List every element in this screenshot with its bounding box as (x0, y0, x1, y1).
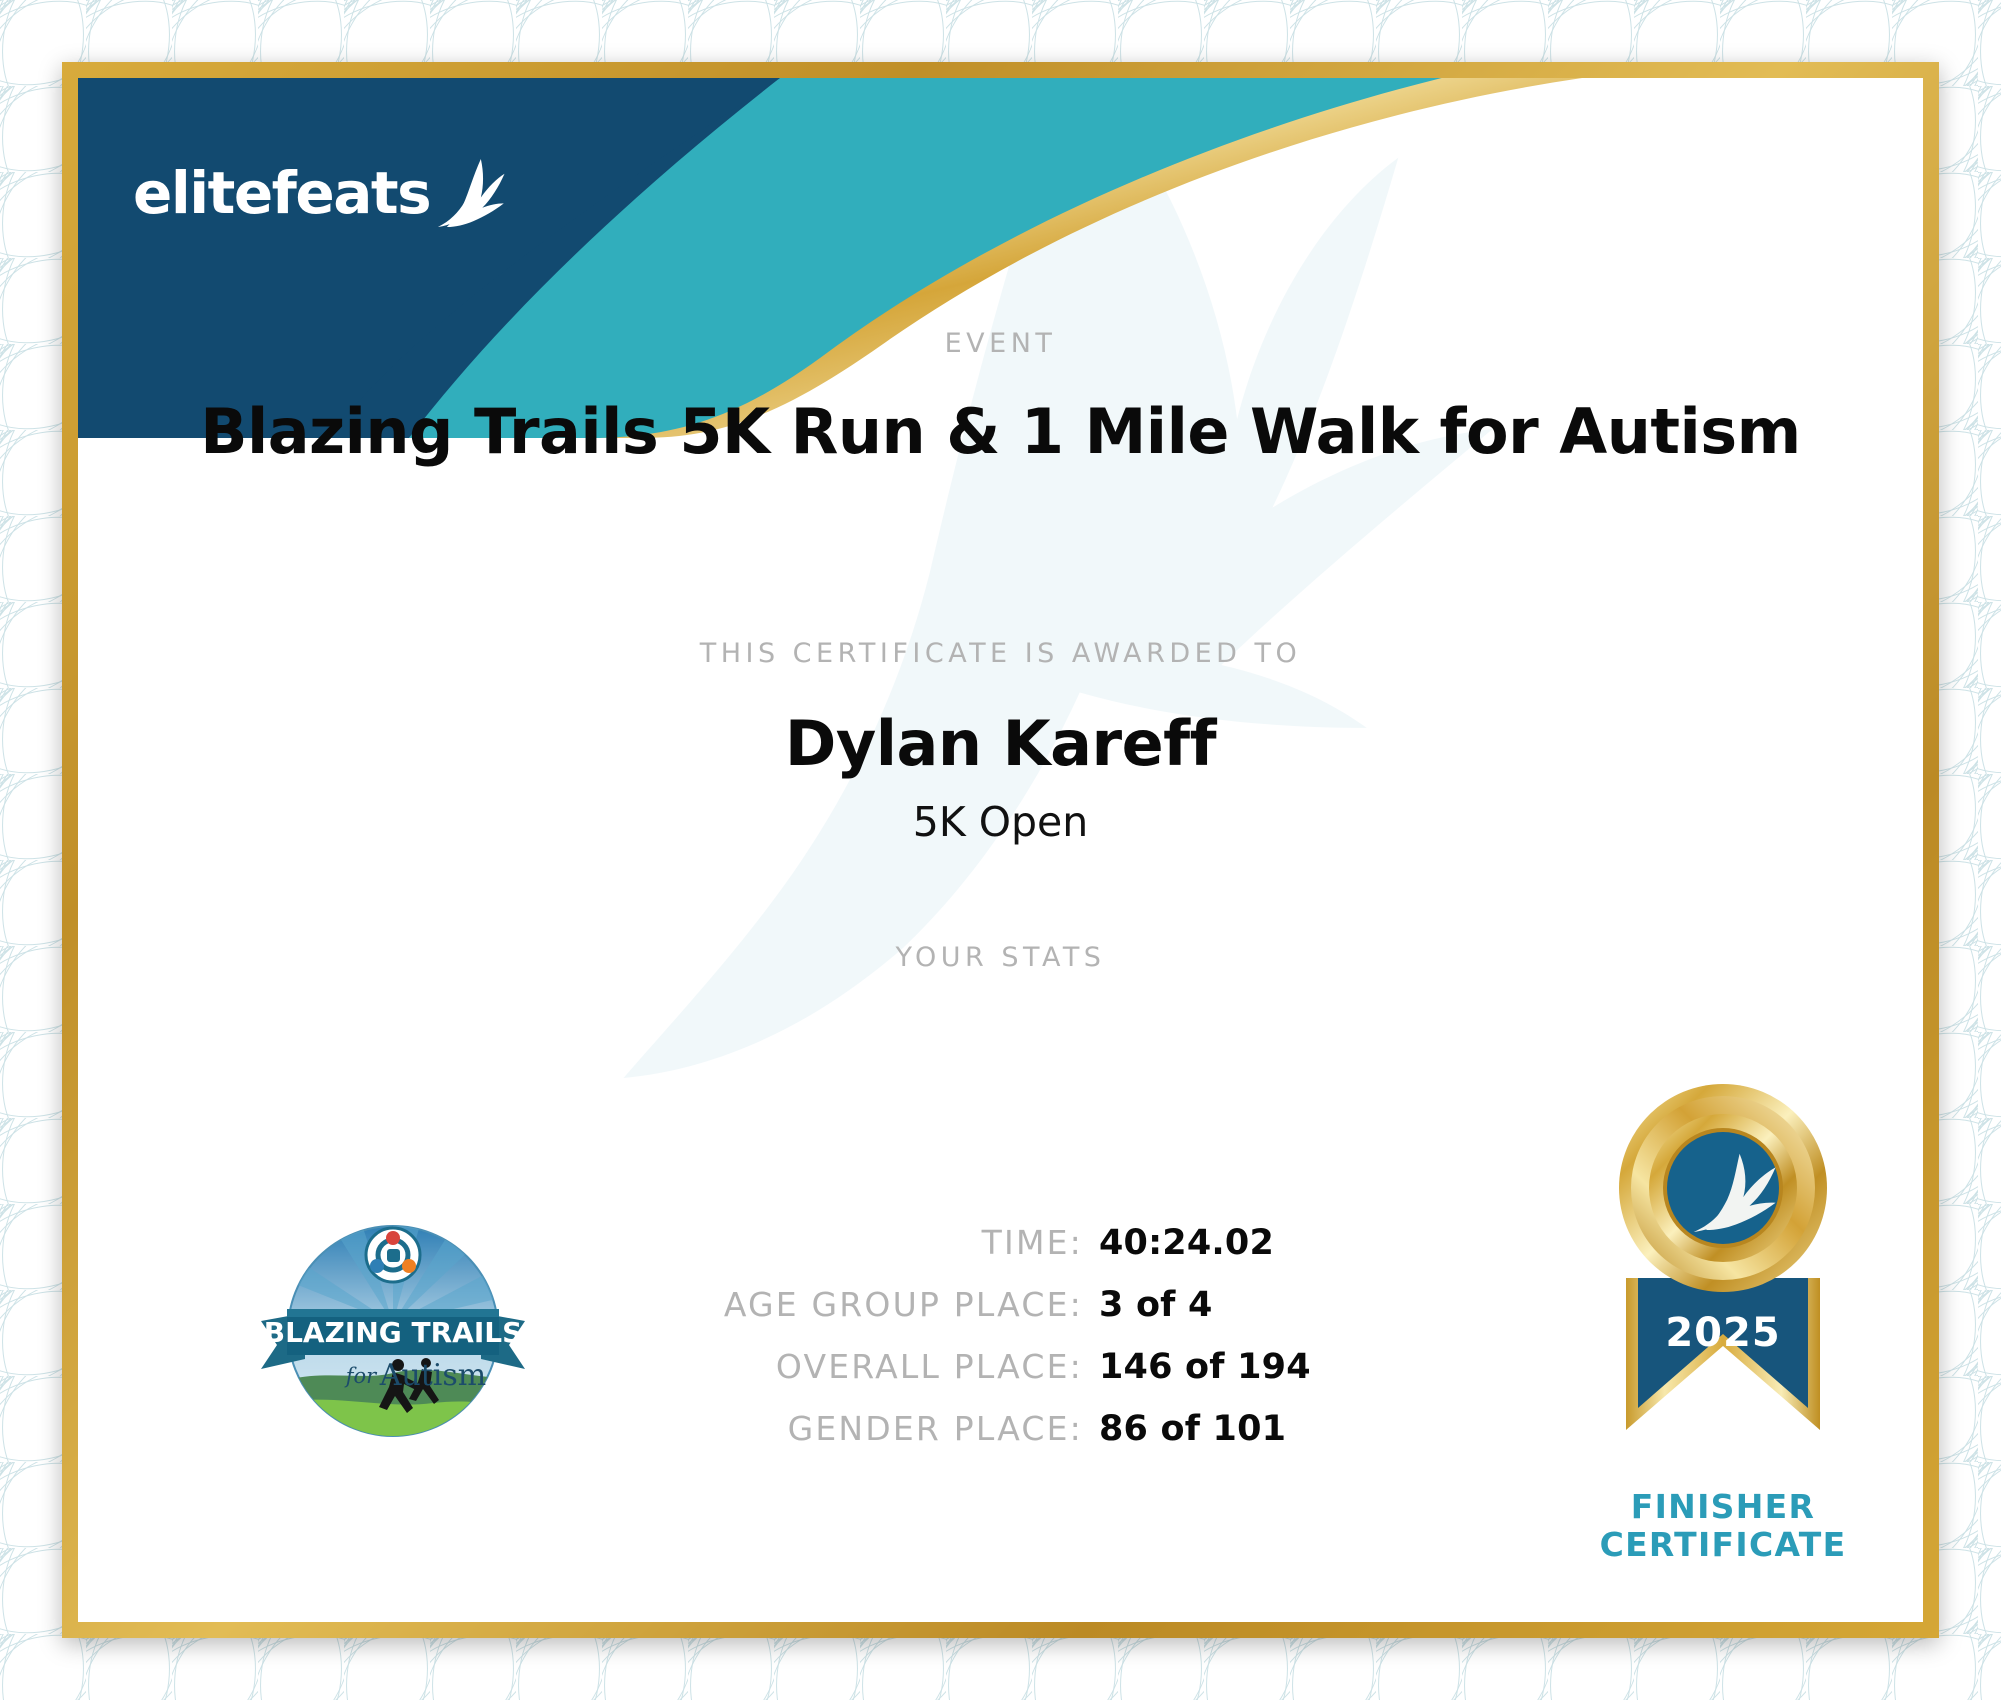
medal-caption-line1: FINISHER (1518, 1488, 1923, 1526)
stat-value: 86 of 101 (1099, 1409, 1286, 1449)
recipient-name: Dylan Kareff (78, 707, 1923, 780)
brand-name: elitefeats (133, 164, 430, 222)
gold-medal-icon: 2025 (1558, 1078, 1888, 1478)
winged-foot-icon (432, 156, 506, 230)
medal-caption-line2: CERTIFICATE (1518, 1526, 1923, 1564)
badge-banner-text: BLAZING TRAILS (264, 1316, 523, 1349)
stat-key: AGE GROUP PLACE: (78, 1285, 1083, 1324)
stat-key: OVERALL PLACE: (78, 1347, 1083, 1386)
stat-key: TIME: (78, 1223, 1083, 1262)
badge-for-text: for (344, 1364, 378, 1388)
medal-caption: FINISHER CERTIFICATE (1518, 1488, 1923, 1565)
stat-value: 40:24.02 (1099, 1223, 1274, 1263)
event-title: Blazing Trails 5K Run & 1 Mile Walk for … (78, 395, 1923, 468)
certificate-content: EVENT Blazing Trails 5K Run & 1 Mile Wal… (78, 328, 1923, 973)
event-label: EVENT (78, 328, 1923, 359)
stat-key: GENDER PLACE: (78, 1409, 1083, 1448)
stat-value: 3 of 4 (1099, 1285, 1213, 1325)
certificate-card: elitefeats EVENT Blazing Trails 5K Run &… (78, 78, 1923, 1622)
stat-value: 146 of 194 (1099, 1347, 1311, 1387)
medal-year: 2025 (1665, 1310, 1780, 1356)
awarded-to-label: THIS CERTIFICATE IS AWARDED TO (78, 638, 1923, 669)
blazing-trails-badge-icon: BLAZING TRAILS for Autism (243, 1213, 543, 1463)
your-stats-label: YOUR STATS (78, 942, 1923, 973)
brand-logo: elitefeats (133, 156, 506, 230)
gold-certificate-frame: elitefeats EVENT Blazing Trails 5K Run &… (62, 62, 1939, 1638)
badge-autism-text: Autism (379, 1358, 486, 1393)
division-name: 5K Open (78, 798, 1923, 846)
